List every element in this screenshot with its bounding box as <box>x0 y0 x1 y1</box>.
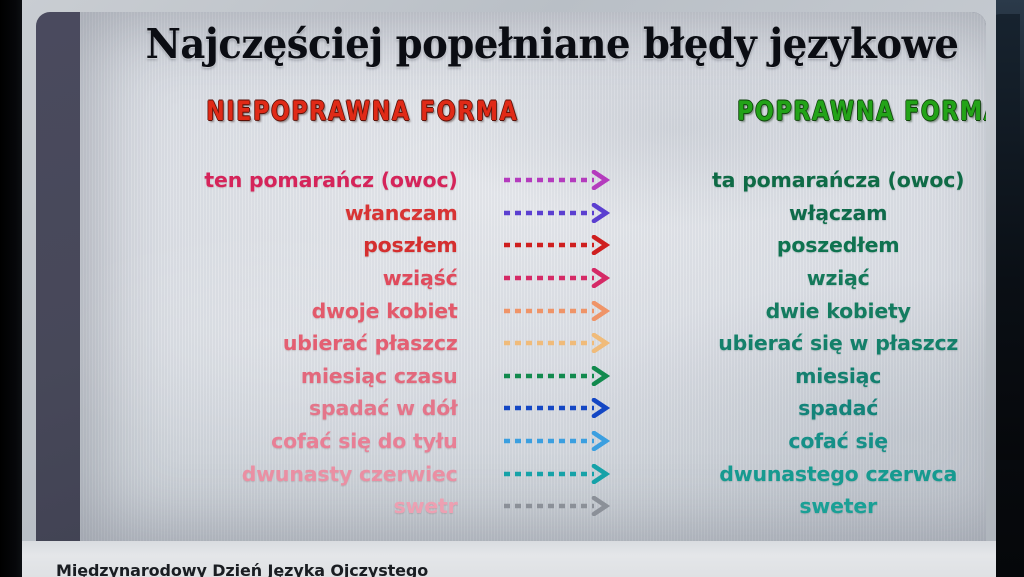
dashed-arrow-right-icon <box>464 170 653 190</box>
correct-form: wziąć <box>652 266 986 290</box>
incorrect-form: poszłem <box>80 233 464 257</box>
table-row: dwunasty czerwiecdwunastego czerwca <box>80 457 986 490</box>
correct-form: dwunastego czerwca <box>652 462 986 486</box>
dashed-arrow-right-icon <box>464 333 653 353</box>
comparison-table: ten pomarańcz (owoc)ta pomarańcza (owoc)… <box>80 164 986 523</box>
correct-form: ta pomarańcza (owoc) <box>652 168 986 192</box>
correct-form: ubierać się w płaszcz <box>652 331 986 355</box>
table-row: ubierać płaszczubierać się w płaszcz <box>80 327 986 360</box>
table-row: spadać w dółspadać <box>80 392 986 425</box>
incorrect-form: dwoje kobiet <box>80 299 464 323</box>
photo-of-projected-slide: Najczęściej popełniane błędy językowe NI… <box>0 0 1024 577</box>
dashed-arrow-right-icon <box>464 268 653 288</box>
table-row: poszłemposzedłem <box>80 229 986 262</box>
presentation-deck-area: Najczęściej popełniane błędy językowe NI… <box>36 12 986 560</box>
table-row: wziąśćwziąć <box>80 262 986 295</box>
dashed-arrow-right-icon <box>464 464 653 484</box>
incorrect-form: cofać się do tyłu <box>80 429 464 453</box>
dashed-arrow-right-icon <box>464 398 653 418</box>
table-row: miesiąc czasumiesiąc <box>80 360 986 393</box>
incorrect-form: dwunasty czerwiec <box>80 462 464 486</box>
incorrect-form: ubierać płaszcz <box>80 331 464 355</box>
monitor-bezel-left <box>0 0 22 577</box>
dashed-arrow-right-icon <box>464 203 653 223</box>
correct-form: spadać <box>652 396 986 420</box>
incorrect-form: miesiąc czasu <box>80 364 464 388</box>
table-row: cofać się do tyłucofać się <box>80 425 986 458</box>
correct-form: włączam <box>652 201 986 225</box>
slide-canvas: Najczęściej popełniane błędy językowe NI… <box>80 12 986 542</box>
table-row: ten pomarańcz (owoc)ta pomarańcza (owoc) <box>80 164 986 197</box>
dashed-arrow-right-icon <box>464 431 653 451</box>
slide-content: Najczęściej popełniane błędy językowe NI… <box>80 12 986 542</box>
table-row: włanczamwłączam <box>80 197 986 230</box>
footer-caption: Międzynarodowy Dzień Języka Ojczystego <box>56 561 428 577</box>
incorrect-form: spadać w dół <box>80 396 464 420</box>
incorrect-form: wziąść <box>80 266 464 290</box>
correct-form: dwie kobiety <box>652 299 986 323</box>
correct-form: miesiąc <box>652 364 986 388</box>
column-header-correct: POPRAWNA FORMA <box>737 96 986 127</box>
table-row: dwoje kobietdwie kobiety <box>80 294 986 327</box>
dashed-arrow-right-icon <box>464 366 653 386</box>
incorrect-form: swetr <box>80 494 464 518</box>
correct-form: poszedłem <box>652 233 986 257</box>
dashed-arrow-right-icon <box>464 235 653 255</box>
correct-form: sweter <box>652 494 986 518</box>
incorrect-form: włanczam <box>80 201 464 225</box>
page-title: Najczęściej popełniane błędy językowe <box>108 20 986 68</box>
dashed-arrow-right-icon <box>464 301 653 321</box>
column-header-incorrect: NIEPOPRAWNA FORMA <box>206 96 518 127</box>
incorrect-form: ten pomarańcz (owoc) <box>80 168 464 192</box>
correct-form: cofać się <box>652 429 986 453</box>
dashed-arrow-right-icon <box>464 496 653 516</box>
table-row: swetrsweter <box>80 490 986 523</box>
